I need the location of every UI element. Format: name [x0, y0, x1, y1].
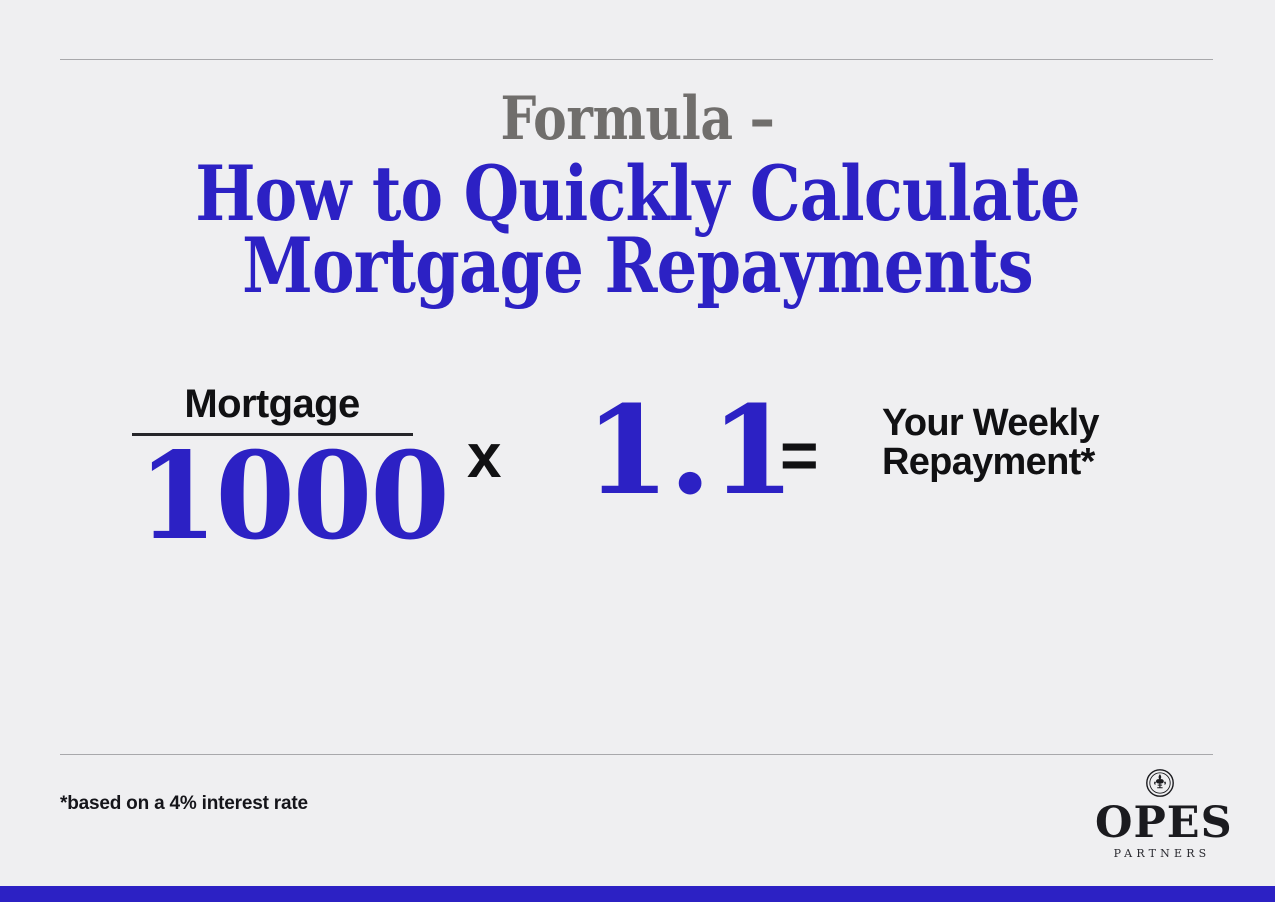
equals-symbol: =: [780, 422, 819, 488]
fraction-denominator: 1000: [138, 436, 406, 558]
formula-result: Your Weekly Repayment*: [882, 404, 1099, 482]
logo-wordmark: OPES: [1095, 801, 1225, 845]
multiplier-value: 1.1: [585, 388, 794, 512]
bottom-divider: [60, 754, 1213, 755]
fleur-de-lis-in-circle-icon: [1145, 768, 1175, 798]
multiply-symbol: x: [467, 426, 501, 488]
slide-canvas: Formula – How to Quickly Calculate Mortg…: [0, 0, 1275, 902]
result-line-1: Your Weekly: [882, 404, 1099, 443]
result-line-2: Repayment*: [882, 443, 1099, 482]
top-divider: [60, 59, 1213, 60]
title-main: How to Quickly Calculate Mortgage Repaym…: [102, 158, 1173, 302]
title-line-1: How to Quickly Calculate: [102, 158, 1173, 230]
logo-subtitle: PARTNERS: [1095, 847, 1225, 861]
page-title: Formula – How to Quickly Calculate Mortg…: [0, 82, 1275, 302]
title-eyebrow: Formula –: [102, 82, 1173, 156]
footnote-text: *based on a 4% interest rate: [60, 791, 308, 817]
fraction-numerator: Mortgage: [131, 382, 413, 426]
brand-logo: OPES PARTNERS: [1095, 768, 1225, 861]
formula-block: Mortgage 1000 x 1.1 = Your Weekly Repaym…: [60, 370, 1160, 590]
fraction: Mortgage 1000: [131, 382, 413, 558]
title-line-2: Mortgage Repayments: [102, 230, 1173, 302]
bottom-accent-bar: [0, 886, 1275, 902]
